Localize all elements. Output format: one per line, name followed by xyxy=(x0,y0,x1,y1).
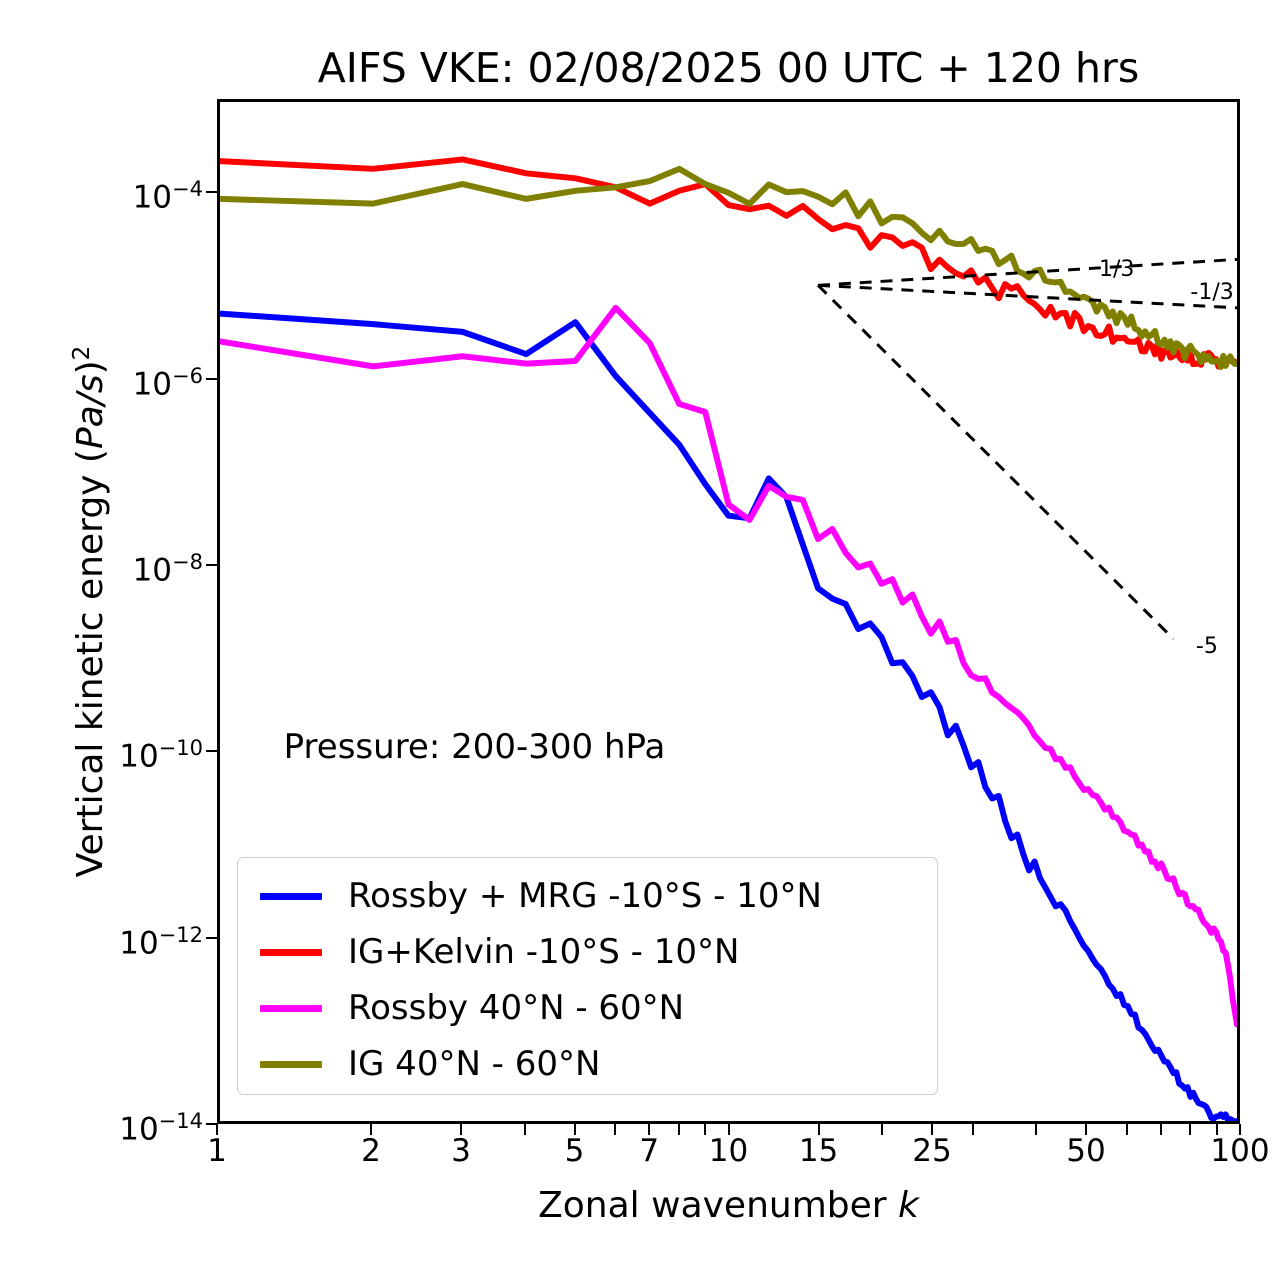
y-tick-mark xyxy=(206,564,217,566)
x-tick-mark xyxy=(678,1124,680,1135)
slope-label: -5 xyxy=(1196,636,1218,658)
x-tick-mark xyxy=(216,1124,218,1135)
series-line xyxy=(220,169,1237,367)
figure-canvas: AIFS VKE: 02/08/2025 00 UTC + 120 hrs Ve… xyxy=(0,0,1280,1288)
legend-item-label: Rossby 40°N - 60°N xyxy=(348,988,684,1028)
y-tick-mark xyxy=(206,378,217,380)
x-tick-mark xyxy=(648,1124,650,1135)
x-tick-mark xyxy=(881,1124,883,1135)
legend-item-label: IG+Kelvin -10°S - 10°N xyxy=(348,932,739,972)
x-axis-label-plain: Zonal wavenumber xyxy=(538,1185,886,1226)
slope-label: 1/3 xyxy=(1099,259,1134,281)
x-tick-mark xyxy=(1189,1124,1191,1135)
x-tick-mark xyxy=(574,1124,576,1135)
y-tick-label: 10−12 xyxy=(30,920,203,959)
legend-color-swatch xyxy=(260,893,322,900)
legend-item-label: IG 40°N - 60°N xyxy=(348,1044,600,1084)
reference-slope-line xyxy=(818,259,1237,285)
x-tick-mark xyxy=(728,1124,730,1135)
legend-item[interactable]: Rossby 40°N - 60°N xyxy=(238,980,937,1036)
x-tick-mark xyxy=(1126,1124,1128,1135)
y-tick-label: 10−10 xyxy=(30,733,203,772)
legend-color-swatch xyxy=(260,1005,322,1012)
y-axis-label-plain: Vertical kinetic energy ( xyxy=(70,449,111,877)
x-axis-label-italic: k xyxy=(898,1185,919,1226)
x-tick-mark xyxy=(1035,1124,1037,1135)
x-tick-mark xyxy=(704,1124,706,1135)
x-tick-label: 25 xyxy=(872,1134,992,1168)
x-tick-mark xyxy=(614,1124,616,1135)
slope-label: -1/3 xyxy=(1190,282,1233,304)
legend-item-label: Rossby + MRG -10°S - 10°N xyxy=(348,876,822,916)
legend-item[interactable]: IG+Kelvin -10°S - 10°N xyxy=(238,924,937,980)
y-tick-mark xyxy=(206,750,217,752)
x-tick-mark xyxy=(460,1124,462,1135)
x-tick-mark xyxy=(818,1124,820,1135)
y-tick-label: 10−8 xyxy=(30,547,203,586)
legend-item[interactable]: IG 40°N - 60°N xyxy=(238,1036,937,1092)
x-tick-mark xyxy=(972,1124,974,1135)
x-tick-mark xyxy=(931,1124,933,1135)
legend: Rossby + MRG -10°S - 10°NIG+Kelvin -10°S… xyxy=(237,857,938,1095)
x-tick-label: 3 xyxy=(401,1134,521,1168)
x-tick-label: 15 xyxy=(759,1134,879,1168)
x-tick-mark xyxy=(370,1124,372,1135)
legend-color-swatch xyxy=(260,949,322,956)
legend-item[interactable]: Rossby + MRG -10°S - 10°N xyxy=(238,868,937,924)
y-tick-mark xyxy=(206,191,217,193)
pressure-annotation: Pressure: 200-300 hPa xyxy=(284,727,666,767)
x-tick-mark xyxy=(524,1124,526,1135)
reference-slope-line xyxy=(818,285,1237,308)
y-tick-label: 10−4 xyxy=(30,174,203,213)
y-axis-label: Vertical kinetic energy (Pa/s)2 xyxy=(52,99,112,1124)
y-axis-label-exponent: 2 xyxy=(69,346,95,361)
y-tick-label: 10−6 xyxy=(30,361,203,400)
x-tick-label: 50 xyxy=(1026,1134,1146,1168)
x-tick-label: 100 xyxy=(1180,1134,1280,1168)
x-tick-mark xyxy=(1216,1124,1218,1135)
x-axis-label: Zonal wavenumber k xyxy=(217,1182,1240,1230)
chart-title: AIFS VKE: 02/08/2025 00 UTC + 120 hrs xyxy=(217,44,1240,92)
y-tick-mark xyxy=(206,937,217,939)
x-tick-mark xyxy=(1085,1124,1087,1135)
x-tick-mark xyxy=(1160,1124,1162,1135)
legend-color-swatch xyxy=(260,1061,322,1068)
x-tick-mark xyxy=(1239,1124,1241,1135)
x-tick-label: 1 xyxy=(157,1134,277,1168)
